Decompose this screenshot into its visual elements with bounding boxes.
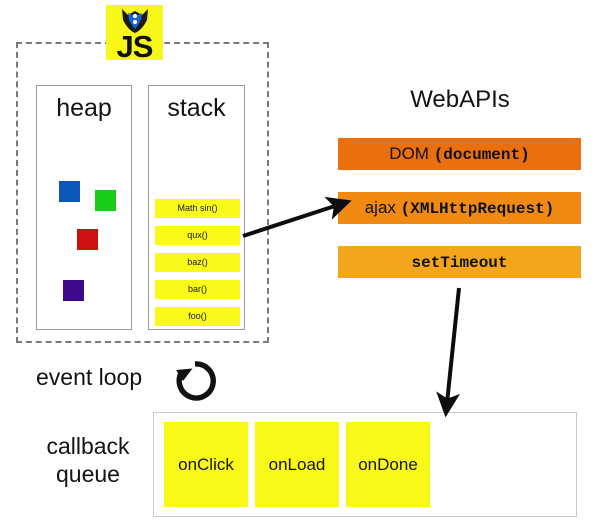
- api-box-dom: DOM (document): [338, 138, 581, 170]
- callback-queue-label-line2: queue: [28, 460, 148, 488]
- stack-title: stack: [149, 94, 244, 122]
- heap-object-green: [95, 190, 116, 211]
- heap-object-purple: [63, 280, 84, 301]
- api-label-mono: (XMLHttpRequest): [401, 200, 555, 218]
- stack-frame: Math sin(): [155, 199, 240, 218]
- stack-panel: stack Math sin()qux()baz()bar()foo(): [148, 85, 245, 330]
- callback-queue-item: onClick: [164, 422, 248, 507]
- stack-frame: qux(): [155, 226, 240, 245]
- heap-panel: heap: [36, 85, 132, 330]
- api-label-plain: ajax: [365, 198, 401, 217]
- callback-queue-label: callback queue: [28, 432, 148, 488]
- callback-queue-item: onDone: [346, 422, 430, 507]
- callback-queue-item: onLoad: [255, 422, 339, 507]
- stack-frame: baz(): [155, 253, 240, 272]
- webapis-title: WebAPIs: [336, 86, 584, 114]
- api-label-mono: (document): [434, 146, 530, 164]
- callback-queue-box: onClickonLoadonDone: [153, 412, 577, 517]
- diagram-canvas: heap stack Math sin()qux()baz()bar()foo(…: [0, 0, 601, 527]
- js-logo-text: JS: [106, 31, 163, 62]
- api-box-ajax: ajax (XMLHttpRequest): [338, 192, 581, 224]
- stack-frame: bar(): [155, 280, 240, 299]
- arrow-webapis-to-queue: [447, 288, 459, 403]
- js-logo: JS: [106, 5, 163, 60]
- circular-arrow-icon: [172, 358, 218, 404]
- heap-title: heap: [37, 94, 131, 122]
- api-label-plain: DOM: [389, 144, 433, 163]
- callback-queue-label-line1: callback: [28, 432, 148, 460]
- event-loop-label: event loop: [36, 364, 142, 391]
- api-box-settimeout: setTimeout: [338, 246, 581, 278]
- stack-frame: foo(): [155, 307, 240, 326]
- heap-object-red: [77, 229, 98, 250]
- api-label-mono: setTimeout: [411, 254, 507, 272]
- heap-object-blue: [59, 181, 80, 202]
